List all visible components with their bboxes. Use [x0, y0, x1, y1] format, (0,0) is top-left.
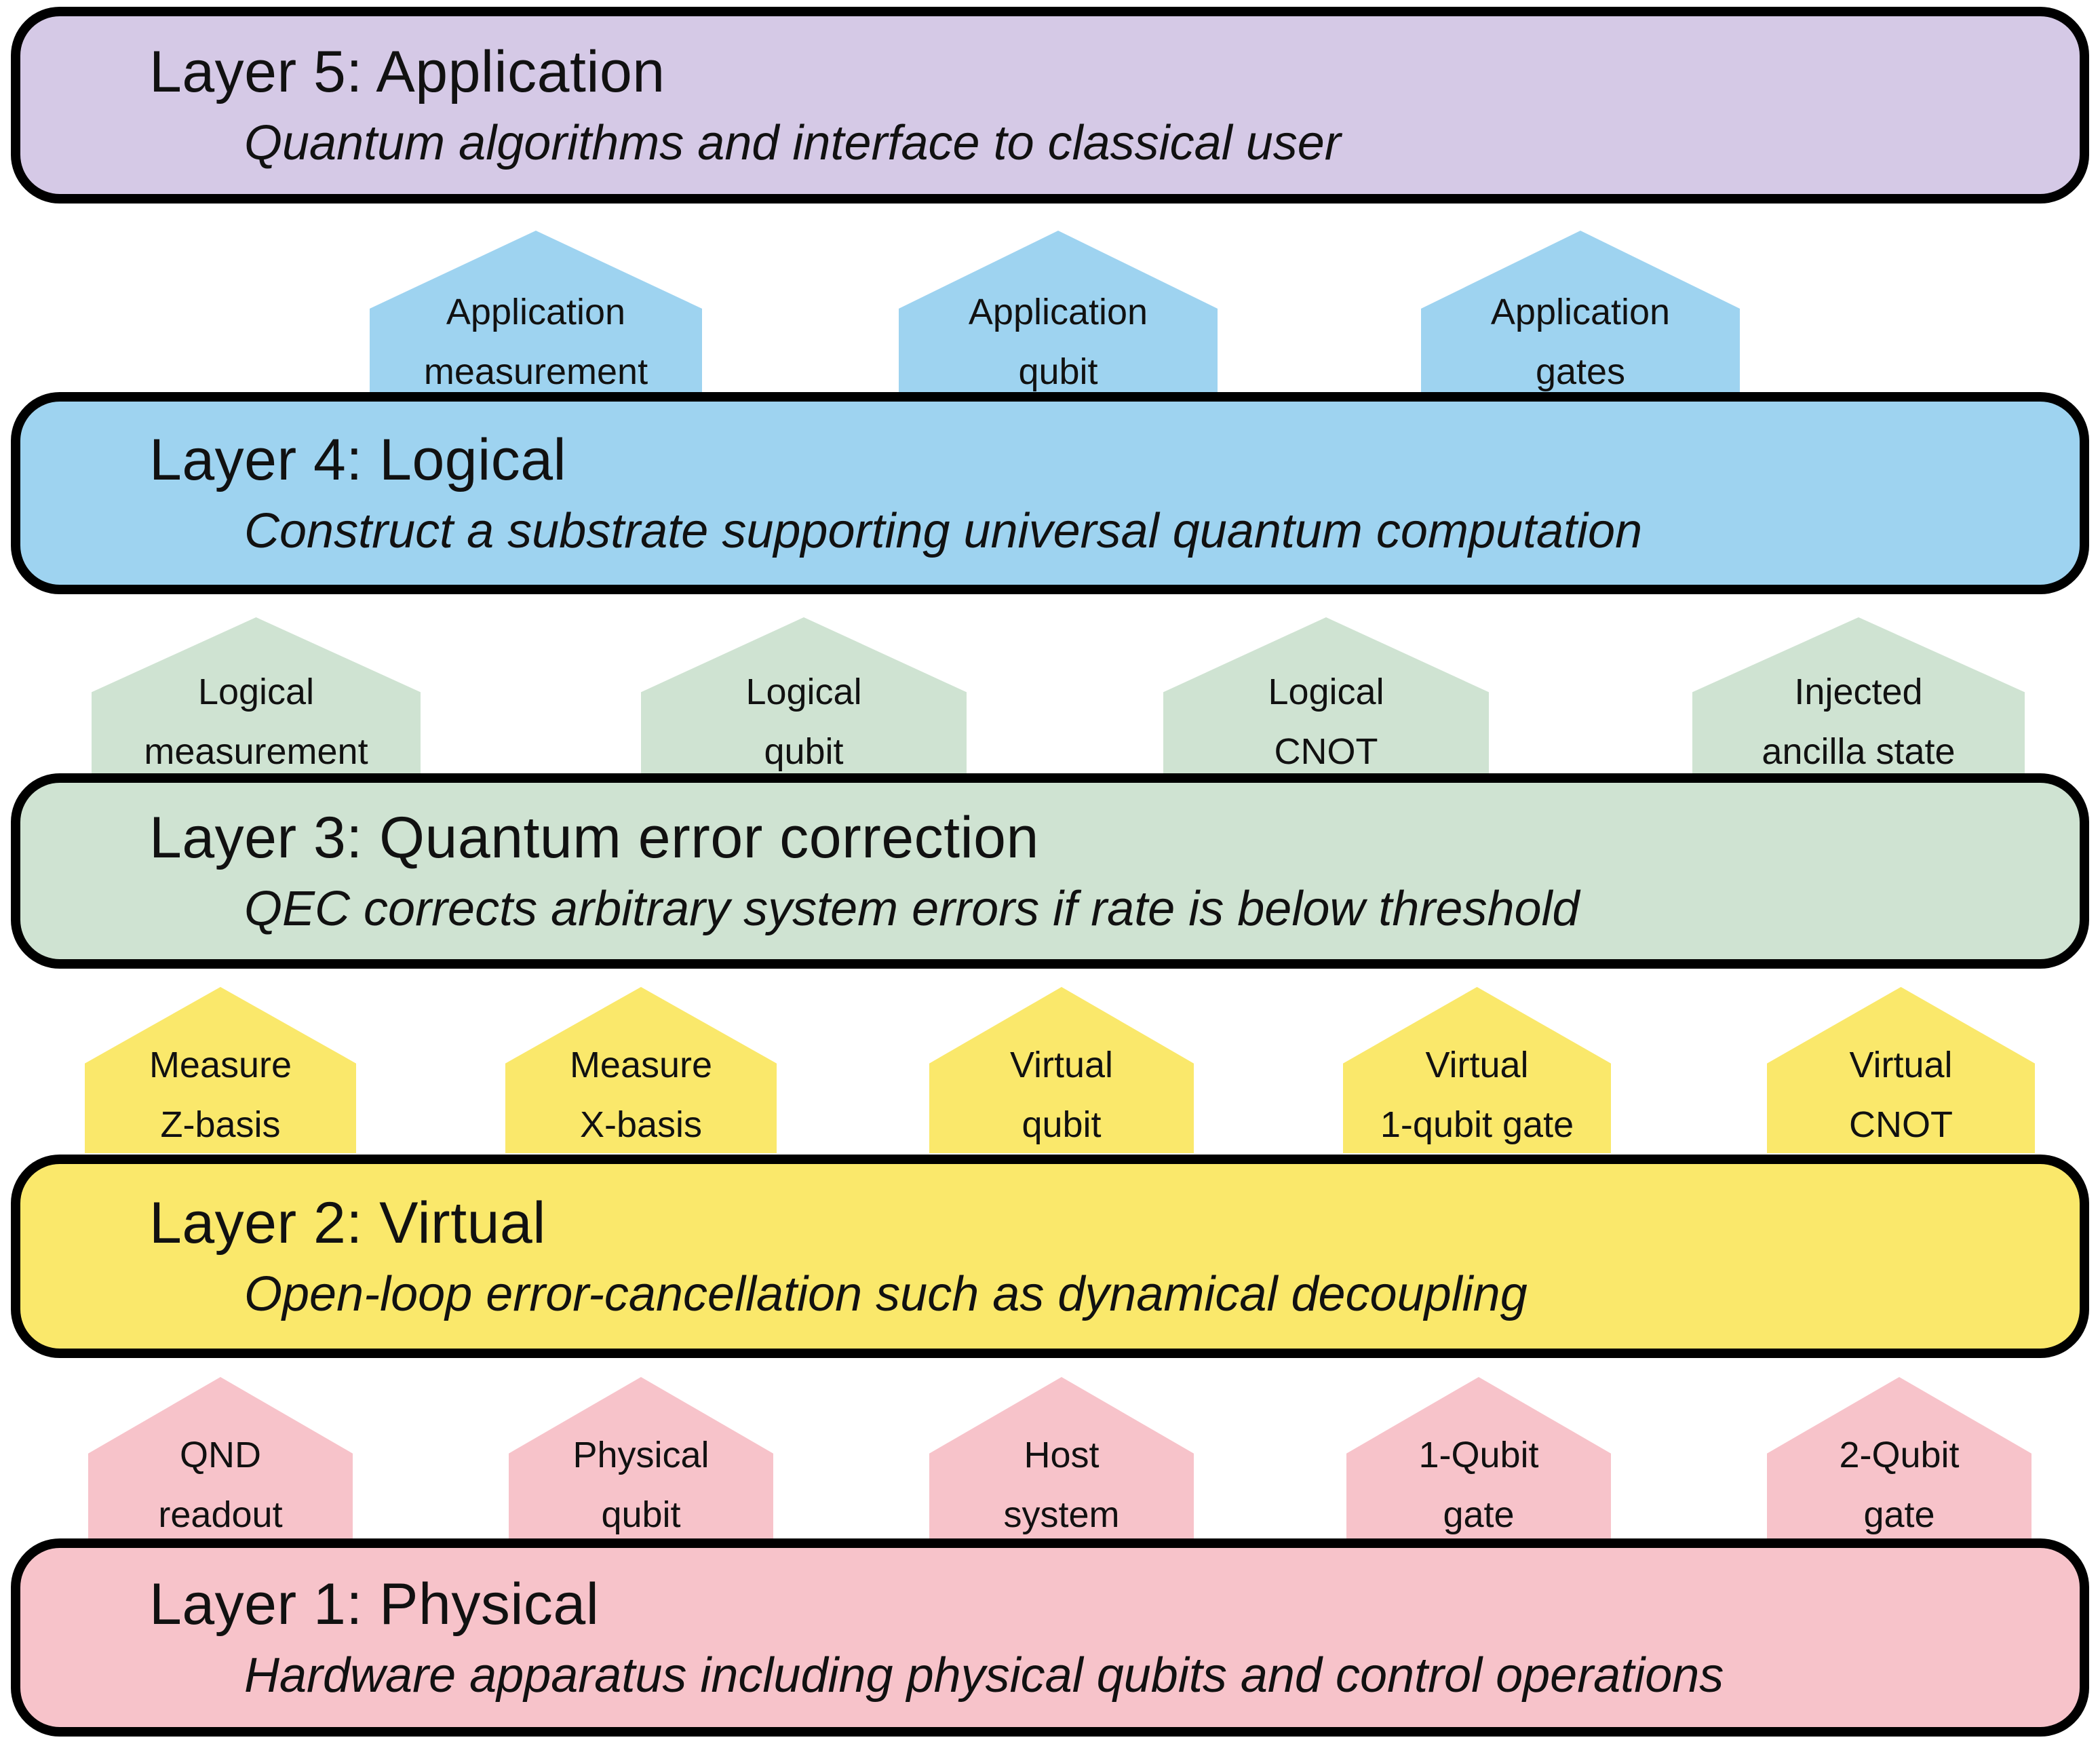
pentagon-virtual-1-qubit-gate[interactable]: Virtual 1-qubit gate	[1343, 987, 1611, 1153]
layered-architecture-diagram: Layer 5: Application Quantum algorithms …	[0, 0, 2100, 1744]
pentagon-physical-qubit[interactable]: Physical qubit	[509, 1377, 773, 1543]
layer-subtitle: QEC corrects arbitrary system errors if …	[20, 885, 2080, 933]
pentagon-label-line2: X-basis	[580, 1103, 702, 1148]
pentagon-label-line2: qubit	[1018, 350, 1097, 395]
pentagon-label-line2: ancilla state	[1762, 730, 1955, 775]
pentagon-row-application: Application measurement Application qubi…	[0, 231, 2100, 400]
layer-subtitle: Quantum algorithms and interface to clas…	[20, 119, 2080, 168]
pentagon-label-line1: QND	[180, 1433, 261, 1478]
pentagon-label-line2: 1-qubit gate	[1380, 1103, 1574, 1148]
pentagon-label-line2: gate	[1443, 1493, 1514, 1538]
pentagon-label-line1: Host	[1024, 1433, 1099, 1478]
layer-title: Layer 3: Quantum error correction	[20, 809, 2080, 867]
pentagon-row-virtual: Measure Z-basis Measure X-basis Virtual …	[0, 987, 2100, 1153]
pentagon-row-logical: Logical measurement Logical qubit Logica…	[0, 617, 2100, 780]
pentagon-label-line2: Z-basis	[160, 1103, 280, 1148]
pentagon-label-line1: Measure	[570, 1043, 712, 1088]
pentagon-injected-ancilla-state[interactable]: Injected ancilla state	[1692, 617, 2025, 780]
pentagon-label-line1: Virtual	[1425, 1043, 1528, 1088]
layer-title: Layer 1: Physical	[20, 1575, 2080, 1633]
pentagon-label-line2: qubit	[1022, 1103, 1101, 1148]
pentagon-qnd-readout[interactable]: QND readout	[88, 1377, 353, 1543]
pentagon-virtual-qubit[interactable]: Virtual qubit	[929, 987, 1194, 1153]
pentagon-label-line2: CNOT	[1275, 730, 1378, 775]
pentagon-label-line2: qubit	[764, 730, 843, 775]
pentagon-2-qubit-gate[interactable]: 2-Qubit gate	[1767, 1377, 2031, 1543]
layer-subtitle: Construct a substrate supporting univers…	[20, 507, 2080, 556]
pentagon-label-line1: Logical	[198, 670, 314, 715]
layer-title: Layer 2: Virtual	[20, 1194, 2080, 1252]
layer-bar-layer-1[interactable]: Layer 1: Physical Hardware apparatus inc…	[11, 1538, 2089, 1737]
pentagon-application-measurement[interactable]: Application measurement	[370, 231, 702, 400]
pentagon-label-line2: gate	[1863, 1493, 1934, 1538]
layer-bar-layer-4[interactable]: Layer 4: Logical Construct a substrate s…	[11, 392, 2089, 594]
layer-bar-layer-3[interactable]: Layer 3: Quantum error correction QEC co…	[11, 773, 2089, 969]
pentagon-label-line2: qubit	[601, 1493, 680, 1538]
layer-title: Layer 5: Application	[20, 43, 2080, 101]
pentagon-logical-cnot[interactable]: Logical CNOT	[1163, 617, 1489, 780]
pentagon-logical-qubit[interactable]: Logical qubit	[641, 617, 967, 780]
layer-title: Layer 4: Logical	[20, 431, 2080, 489]
pentagon-label-line1: Virtual	[1010, 1043, 1113, 1088]
pentagon-label-line1: Logical	[1268, 670, 1384, 715]
pentagon-label-line1: Application	[446, 290, 625, 335]
pentagon-label-line1: Logical	[745, 670, 861, 715]
layer-bar-layer-5[interactable]: Layer 5: Application Quantum algorithms …	[11, 7, 2089, 204]
pentagon-label-line1: Injected	[1794, 670, 1922, 715]
pentagon-label-line2: CNOT	[1849, 1103, 1953, 1148]
pentagon-host-system[interactable]: Host system	[929, 1377, 1194, 1543]
pentagon-label-line2: gates	[1536, 350, 1625, 395]
layer-subtitle: Open-loop error-cancellation such as dyn…	[20, 1270, 2080, 1319]
pentagon-label-line2: system	[1003, 1493, 1119, 1538]
pentagon-logical-measurement[interactable]: Logical measurement	[92, 617, 421, 780]
pentagon-label-line1: 2-Qubit	[1839, 1433, 1959, 1478]
pentagon-label-line1: 1-Qubit	[1418, 1433, 1538, 1478]
layer-bar-layer-2[interactable]: Layer 2: Virtual Open-loop error-cancell…	[11, 1155, 2089, 1358]
pentagon-label-line2: measurement	[424, 350, 648, 395]
pentagon-application-qubit[interactable]: Application qubit	[899, 231, 1218, 400]
pentagon-virtual-cnot[interactable]: Virtual CNOT	[1767, 987, 2035, 1153]
pentagon-row-physical: QND readout Physical qubit Host system 1…	[0, 1377, 2100, 1543]
pentagon-label-line2: measurement	[144, 730, 368, 775]
pentagon-measure-z-basis[interactable]: Measure Z-basis	[85, 987, 356, 1153]
pentagon-label-line1: Virtual	[1849, 1043, 1952, 1088]
layer-subtitle: Hardware apparatus including physical qu…	[20, 1651, 2080, 1700]
pentagon-application-gates[interactable]: Application gates	[1421, 231, 1740, 400]
pentagon-label-line1: Measure	[149, 1043, 292, 1088]
pentagon-measure-x-basis[interactable]: Measure X-basis	[505, 987, 777, 1153]
pentagon-label-line2: readout	[158, 1493, 282, 1538]
pentagon-1-qubit-gate[interactable]: 1-Qubit gate	[1346, 1377, 1611, 1543]
pentagon-label-line1: Application	[1491, 290, 1670, 335]
pentagon-label-line1: Physical	[572, 1433, 709, 1478]
pentagon-label-line1: Application	[969, 290, 1148, 335]
